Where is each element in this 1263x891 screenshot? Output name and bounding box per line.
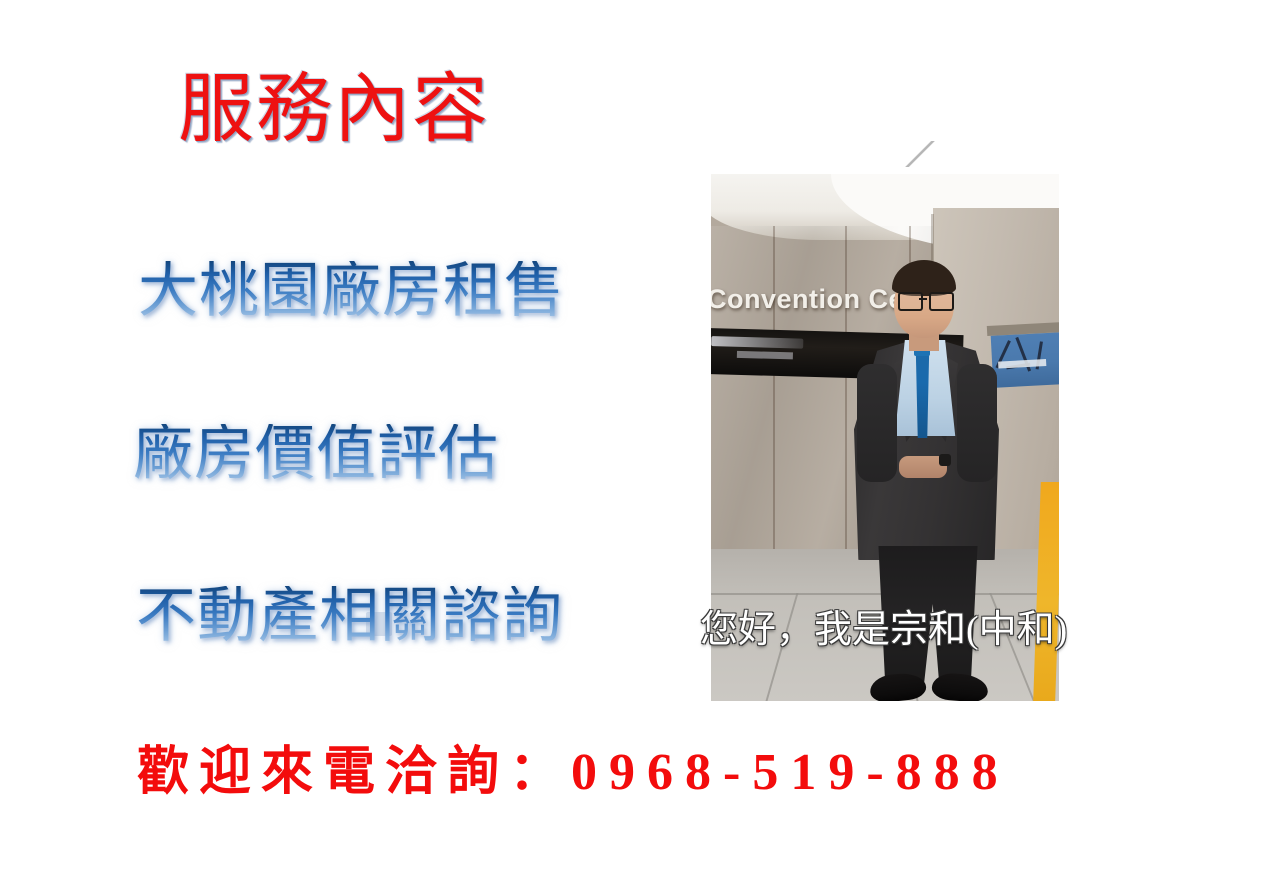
person-hair: [892, 260, 956, 296]
photo-caption: 您好，我是宗和(中和): [700, 610, 1067, 652]
service-item-3: 不動產相關諮詢: [136, 586, 563, 646]
glasses-lens-right: [929, 292, 954, 311]
person-shoe-right: [931, 672, 989, 701]
diagonal-streak-artifact: [903, 141, 937, 167]
contact-cta: 歡迎來電洽詢：0968-519-888: [137, 746, 1010, 801]
person-watch: [939, 454, 951, 466]
glasses-icon: [898, 292, 950, 307]
glasses-lens-left: [898, 292, 923, 311]
phone-number: 0968-519-888: [571, 744, 1010, 801]
cta-label: 歡迎來電洽詢：: [137, 744, 571, 801]
service-item-1: 大桃園廠房租售: [138, 261, 565, 321]
person-arm-right: [957, 364, 997, 482]
person-arm-left: [857, 364, 897, 482]
glasses-bridge: [919, 298, 927, 300]
page-title: 服務內容: [178, 72, 490, 148]
slide-canvas: 服務內容 大桃園廠房租售 廠房價值評估 不動產相關諮詢 Convention C…: [0, 0, 1263, 891]
service-item-2: 廠房價值評估: [133, 424, 499, 484]
